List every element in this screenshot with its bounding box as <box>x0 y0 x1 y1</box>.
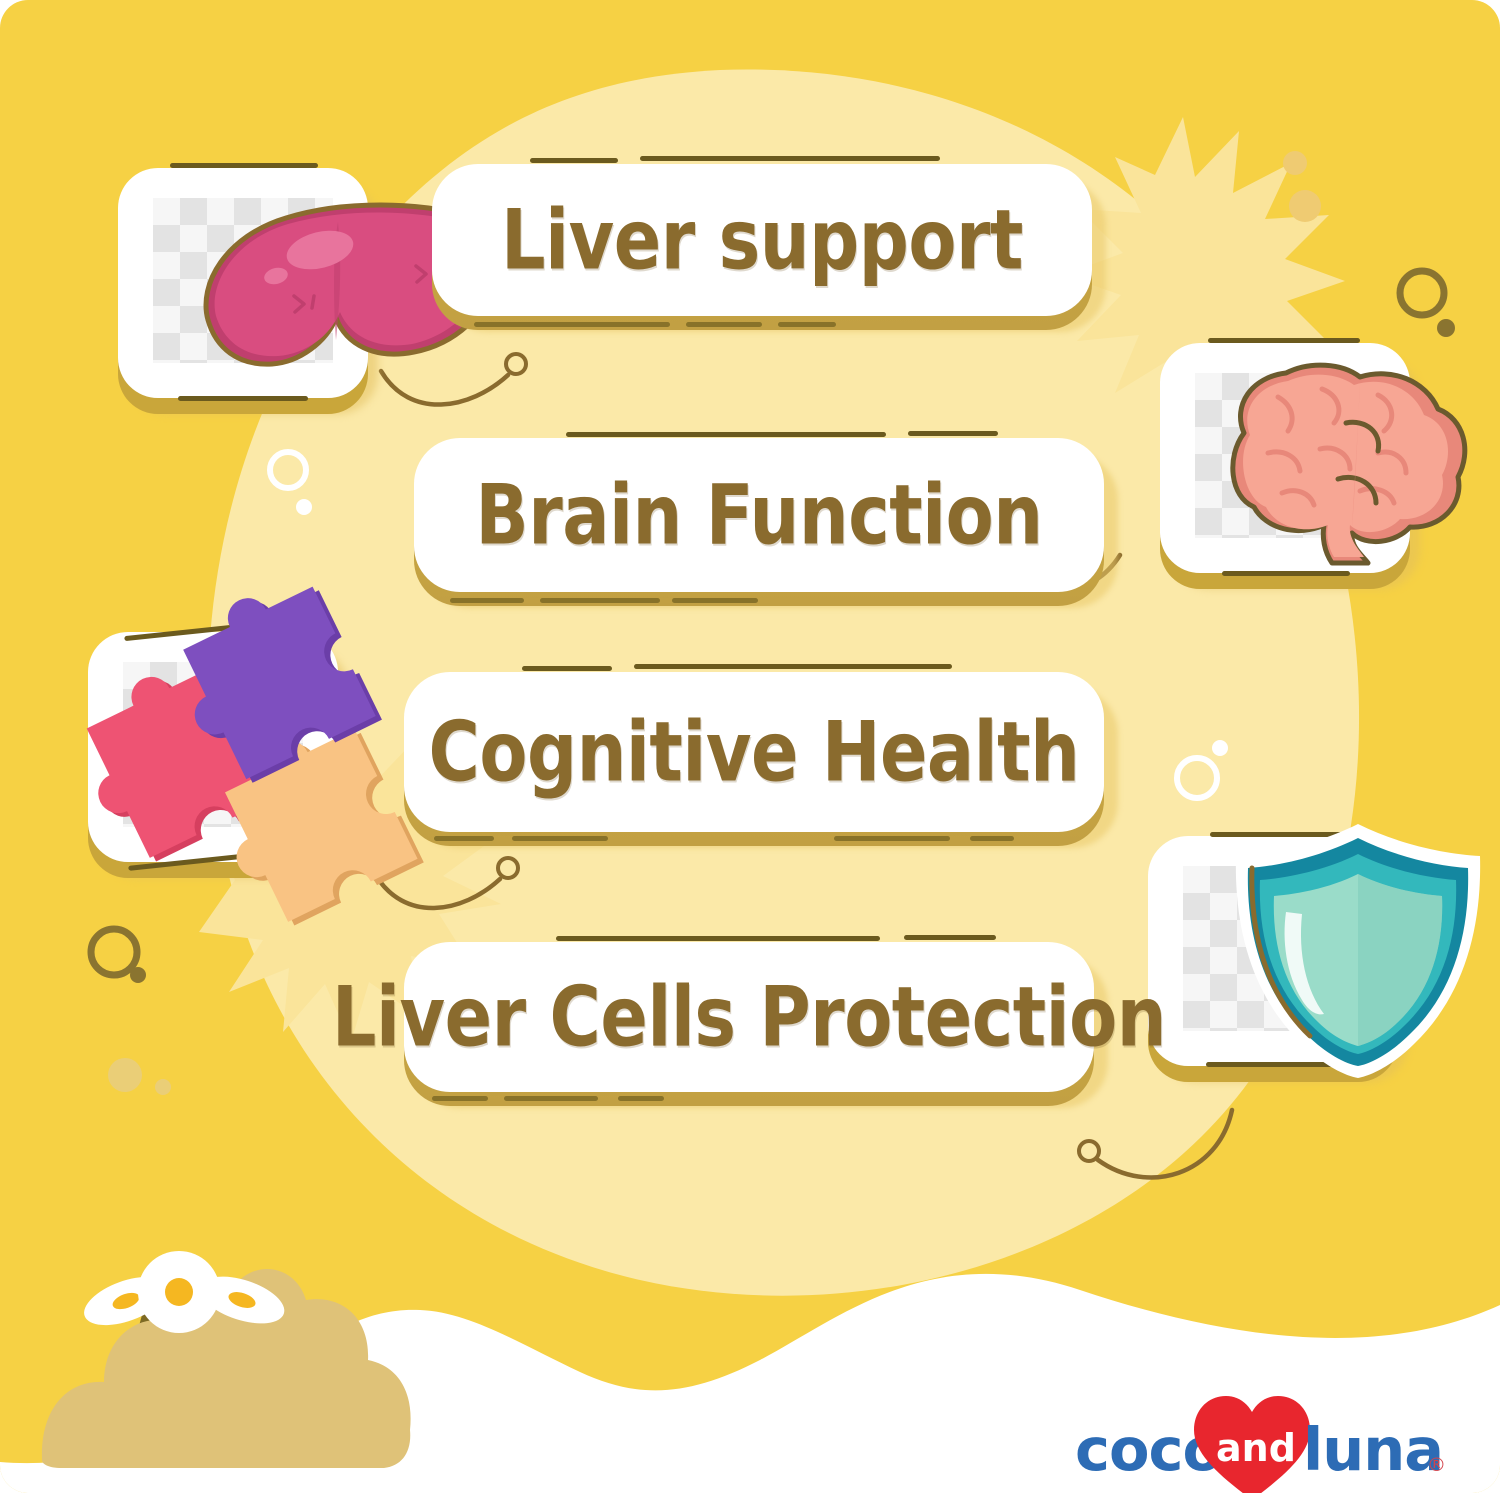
banner-bottom-dash <box>970 836 1014 841</box>
benefit-label: Brain Function <box>475 474 1042 557</box>
dot-soft <box>1283 151 1307 175</box>
banner-bottom-dash <box>834 836 950 841</box>
logo-word-and: and <box>1216 1429 1290 1467</box>
logo-word-luna: luna <box>1303 1420 1443 1479</box>
benefit-label: Liver support <box>501 199 1023 282</box>
infographic-canvas: Liver support Brain Function Cognitive H… <box>0 0 1500 1493</box>
banner-top-dash <box>908 431 998 436</box>
dot-soft <box>1289 190 1321 222</box>
banner-top-dash <box>566 432 886 437</box>
banner-bottom-dash <box>474 322 670 327</box>
icon-card-brain <box>1160 343 1410 573</box>
card-top-dash <box>170 163 318 168</box>
dot-soft <box>155 1079 171 1095</box>
card-bottom-dash <box>178 396 308 401</box>
dot <box>1437 319 1455 337</box>
registered-trademark-icon: ® <box>1427 1454 1446 1476</box>
banner-bottom-dash <box>778 322 836 327</box>
card-bottom-dash <box>1206 1062 1344 1067</box>
banner-bottom-dash <box>672 598 758 603</box>
benefit-label: Cognitive Health <box>429 711 1080 794</box>
dot <box>130 967 146 983</box>
transparency-checker <box>153 198 333 364</box>
banner-bottom-dash <box>686 322 762 327</box>
icon-card-liver <box>118 168 368 398</box>
banner-top-dash <box>634 664 952 669</box>
transparency-checker <box>1183 866 1363 1032</box>
banner-top-dash <box>530 158 618 163</box>
transparency-checker <box>1195 373 1375 539</box>
dot-soft <box>108 1058 142 1092</box>
banner-bottom-dash <box>434 836 494 841</box>
banner-top-dash <box>640 156 940 161</box>
banner-bottom-dash <box>450 598 524 603</box>
card-bottom-dash <box>1222 571 1350 576</box>
card-top-dash <box>1208 338 1360 343</box>
benefit-banner-liver-support[interactable]: Liver support <box>432 164 1092 316</box>
circle-outline <box>1400 271 1444 315</box>
benefit-banner-liver-cells-protection[interactable]: Liver Cells Protection <box>404 942 1094 1092</box>
dot <box>296 499 312 515</box>
coco-and-luna-logo: coco and luna ® <box>1075 1392 1445 1487</box>
banner-bottom-dash <box>432 1096 488 1101</box>
transparency-checker <box>123 662 303 828</box>
banner-top-dash <box>904 935 996 940</box>
banner-bottom-dash <box>504 1096 598 1101</box>
flower-bush-decoration <box>42 1251 411 1468</box>
banner-top-dash <box>522 666 612 671</box>
icon-card-puzzle <box>88 632 338 862</box>
benefit-label: Liver Cells Protection <box>332 976 1166 1059</box>
benefit-banner-brain-function[interactable]: Brain Function <box>414 438 1104 592</box>
banner-bottom-dash <box>540 598 660 603</box>
dot <box>1212 740 1228 756</box>
banner-bottom-dash <box>512 836 608 841</box>
card-top-dash <box>1210 832 1346 837</box>
banner-top-dash <box>556 936 880 941</box>
circle-outline <box>91 929 137 975</box>
icon-card-shield <box>1148 836 1398 1066</box>
benefit-banner-cognitive-health[interactable]: Cognitive Health <box>404 672 1104 832</box>
banner-bottom-dash <box>618 1096 664 1101</box>
